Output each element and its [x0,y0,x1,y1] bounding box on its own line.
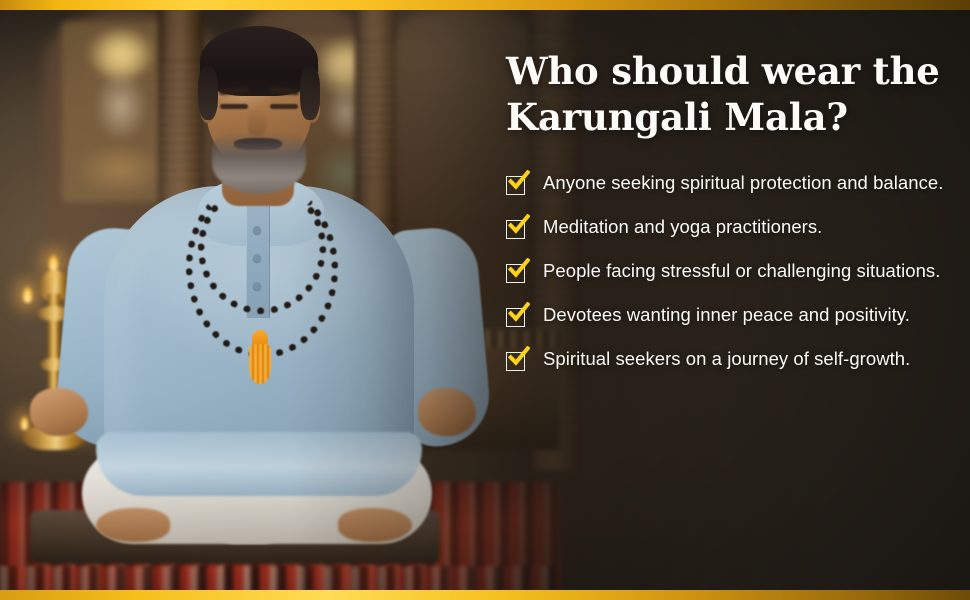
check-mark-glyph [508,346,530,368]
list-item: Devotees wanting inner peace and positiv… [506,303,948,327]
check-mark-glyph [508,170,530,192]
page-title: Who should wear the Karungali Mala? [506,48,948,141]
checkbox-checked-icon [506,262,527,283]
gold-accent-bar-bottom [0,590,970,600]
list-item-label: People facing stressful or challenging s… [543,259,940,283]
headline-line-2: Karungali Mala? [506,95,848,139]
list-item: Spiritual seekers on a journey of self-g… [506,347,948,371]
list-item-label: Meditation and yoga practitioners. [543,215,822,239]
check-mark-glyph [508,214,530,236]
list-item: Anyone seeking spiritual protection and … [506,171,948,195]
checkbox-checked-icon [506,218,527,239]
list-item-label: Devotees wanting inner peace and positiv… [543,303,910,327]
benefits-list: Anyone seeking spiritual protection and … [506,171,948,371]
check-mark-glyph [508,258,530,280]
list-item: People facing stressful or challenging s… [506,259,948,283]
karungali-mala-banner: Who should wear the Karungali Mala? Anyo… [0,0,970,600]
banner-content: Who should wear the Karungali Mala? Anyo… [506,48,948,371]
checkbox-checked-icon [506,350,527,371]
checkbox-checked-icon [506,306,527,327]
list-item: Meditation and yoga practitioners. [506,215,948,239]
gold-accent-bar-top [0,0,970,10]
check-mark-glyph [508,302,530,324]
checkbox-checked-icon [506,174,527,195]
list-item-label: Anyone seeking spiritual protection and … [543,171,943,195]
headline-line-1: Who should wear the [506,49,940,93]
list-item-label: Spiritual seekers on a journey of self-g… [543,347,910,371]
